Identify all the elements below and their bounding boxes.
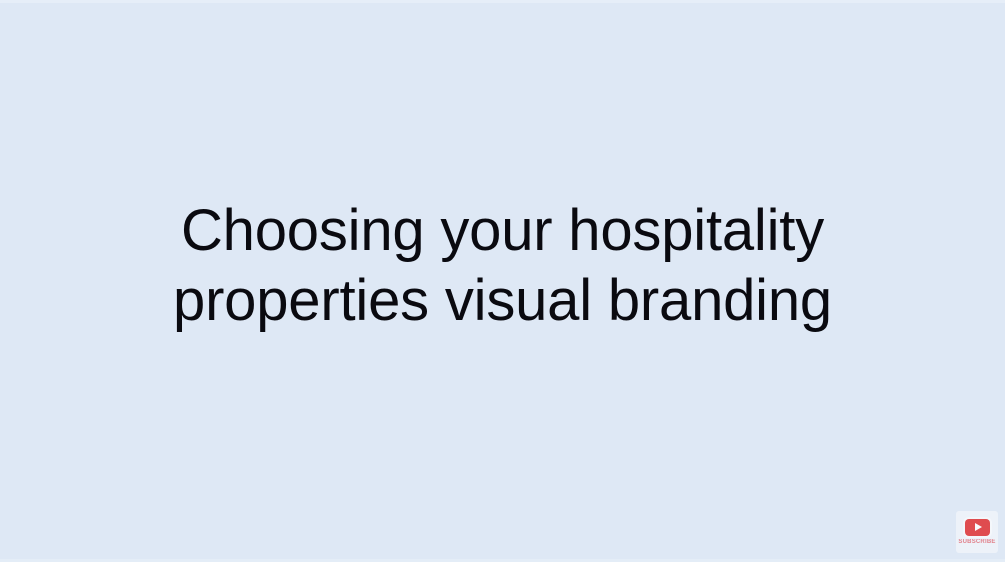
youtube-play-icon[interactable]	[965, 519, 990, 536]
slide-title-line-1: Choosing your hospitality	[0, 196, 1005, 266]
youtube-subscribe-watermark[interactable]: SUBSCRIBE	[956, 511, 998, 553]
slide-top-edge	[0, 0, 1005, 3]
slide-title-line-2: properties visual branding	[0, 266, 1005, 336]
presentation-slide: Choosing your hospitality properties vis…	[0, 0, 1005, 562]
slide-title: Choosing your hospitality properties vis…	[0, 196, 1005, 336]
subscribe-label: SUBSCRIBE	[958, 539, 995, 546]
play-triangle-icon	[975, 523, 982, 531]
